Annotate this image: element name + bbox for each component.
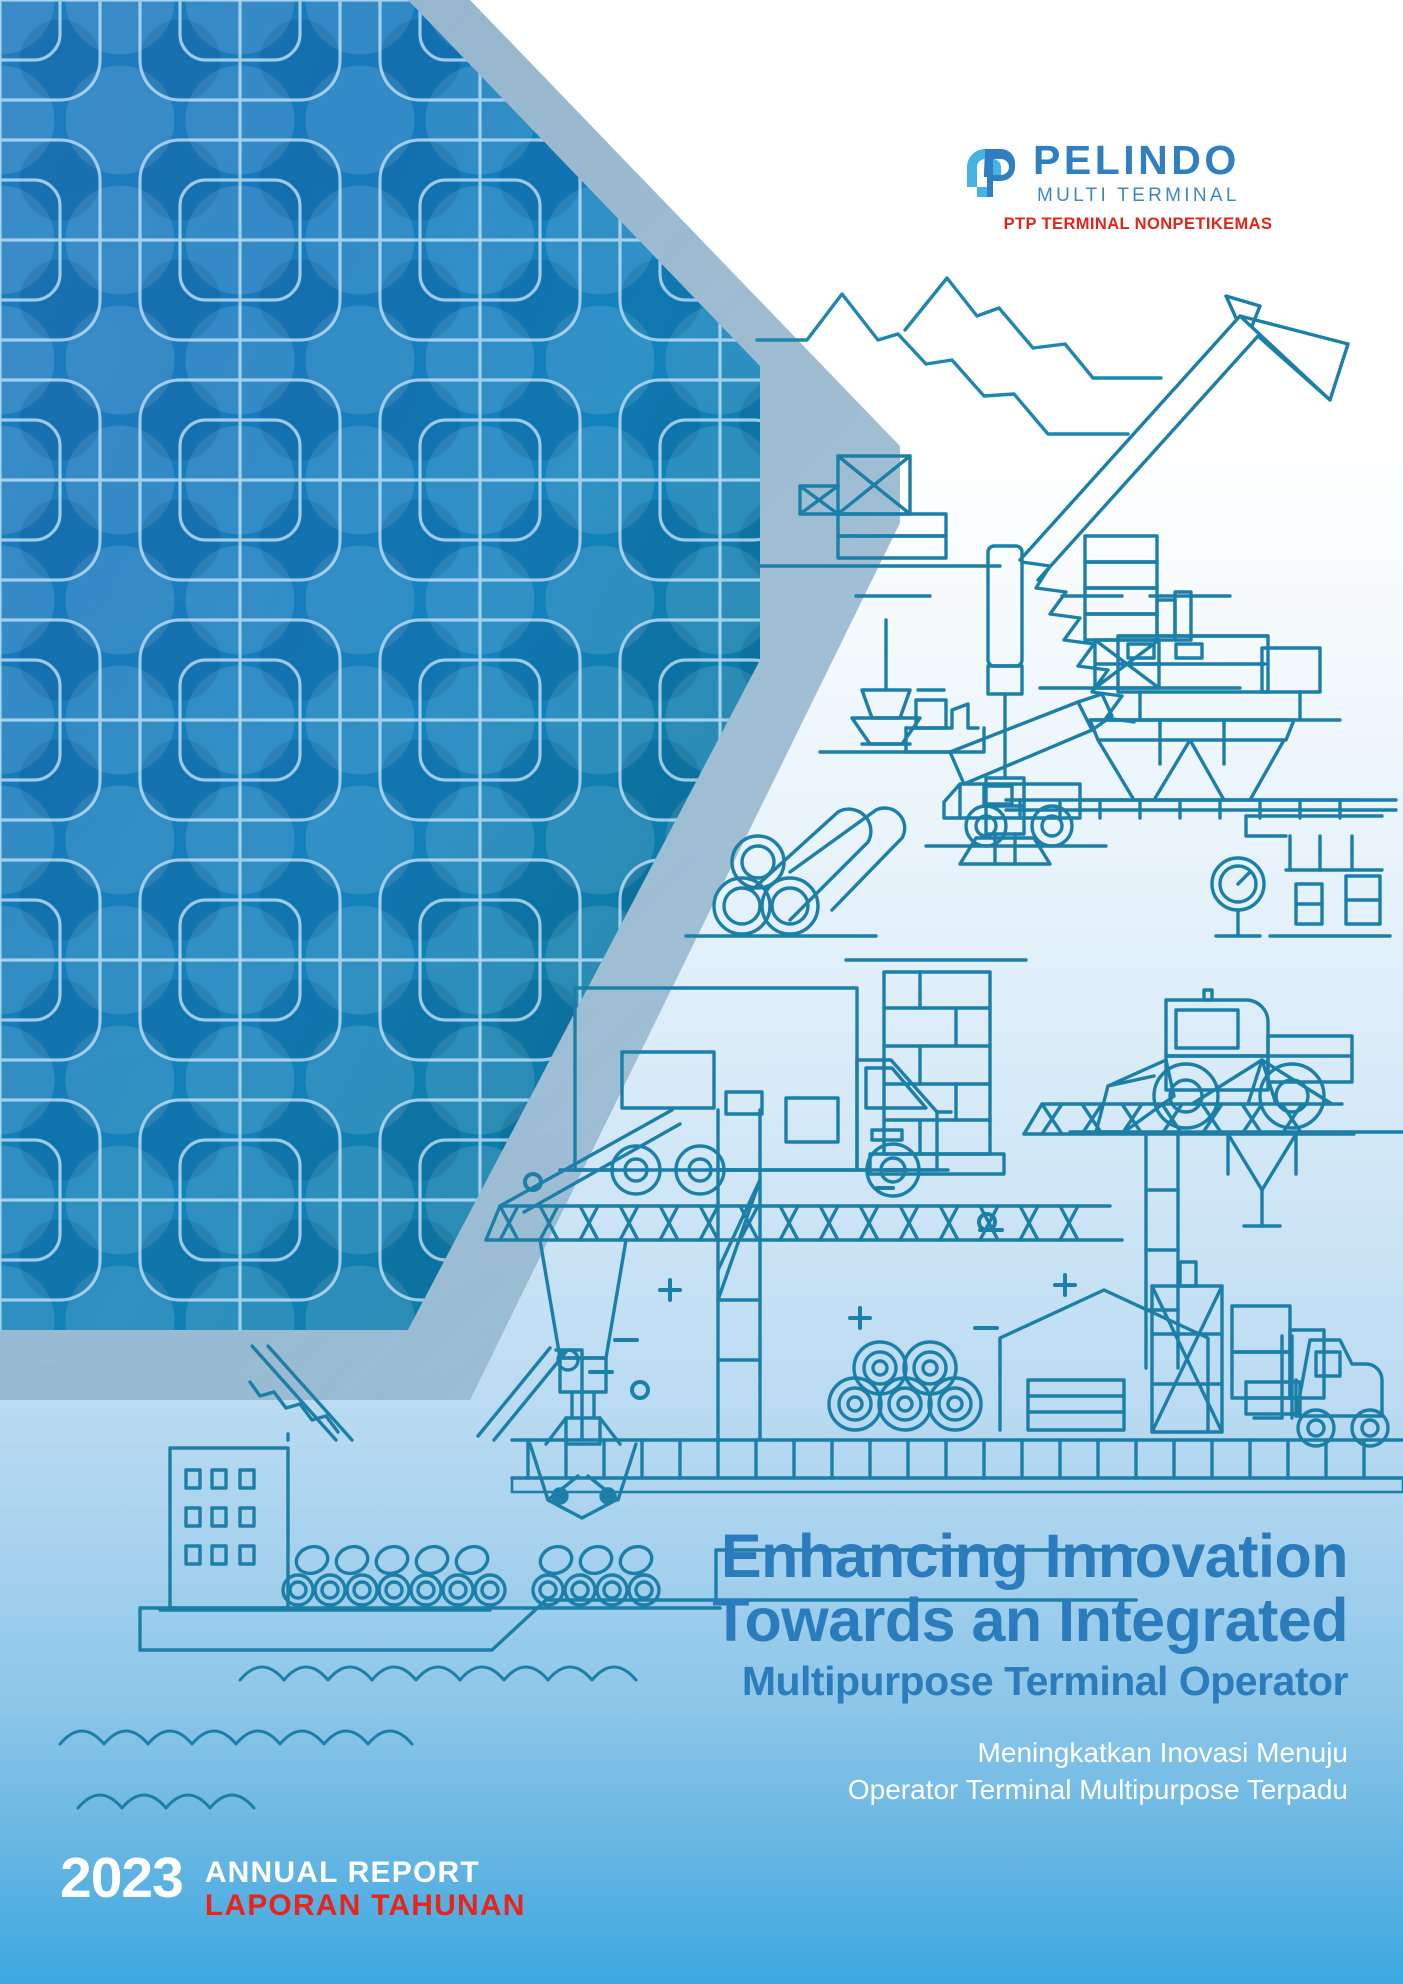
- ship-to-shore-crane: [856, 296, 1348, 864]
- annual-report-cover: PELINDO MULTI TERMINAL PTP TERMINAL NONP…: [0, 0, 1403, 1984]
- cover-footer: 2023 ANNUAL REPORT LAPORAN TAHUNAN: [60, 1852, 526, 1922]
- title-line-2: Towards an Integrated: [368, 1588, 1348, 1652]
- title-line-1: Enhancing Innovation: [368, 1525, 1348, 1588]
- subtitle-id-line-1: Meningkatkan Inovasi Menuju: [368, 1735, 1348, 1772]
- warehouse: [1000, 1290, 1208, 1430]
- report-year: 2023: [60, 1852, 183, 1904]
- box-cluster: [1232, 1306, 1324, 1414]
- title-line-3: Multipurpose Terminal Operator: [368, 1656, 1348, 1707]
- brick-pallet: [846, 960, 1026, 1174]
- decor-marks: [525, 1170, 1075, 1398]
- coil-stack: [829, 1342, 981, 1430]
- quay-crane-right: [1024, 1060, 1354, 1368]
- storage-tank: [1040, 536, 1240, 688]
- report-label-id: LAPORAN TAHUNAN: [205, 1890, 526, 1922]
- gauge-pipes: [1212, 816, 1390, 936]
- pelindo-p-mark-icon: [963, 145, 1019, 201]
- pelindo-logo: PELINDO MULTI TERMINAL PTP TERMINAL NONP…: [963, 140, 1313, 234]
- forklift: [1254, 1336, 1388, 1446]
- quay-deck: [512, 1440, 1403, 1492]
- lattice-tower: [1152, 1262, 1222, 1432]
- logo-wordmark: PELINDO: [1033, 140, 1240, 181]
- subtitle-indonesian: Meningkatkan Inovasi Menuju Operator Ter…: [368, 1735, 1348, 1809]
- subtitle-id-line-2: Operator Terminal Multipurpose Terpadu: [368, 1772, 1348, 1809]
- report-label-en: ANNUAL REPORT: [205, 1857, 526, 1889]
- gantry-crane: [1006, 636, 1396, 818]
- wheel-loader: [1070, 990, 1403, 1132]
- logo-tagline: PTP TERMINAL NONPETIKEMAS: [963, 215, 1313, 234]
- logo-subbrand: MULTI TERMINAL: [1033, 186, 1240, 205]
- reach-stacker: [906, 690, 1112, 846]
- cover-title-block: Enhancing Innovation Towards an Integrat…: [368, 1525, 1348, 1809]
